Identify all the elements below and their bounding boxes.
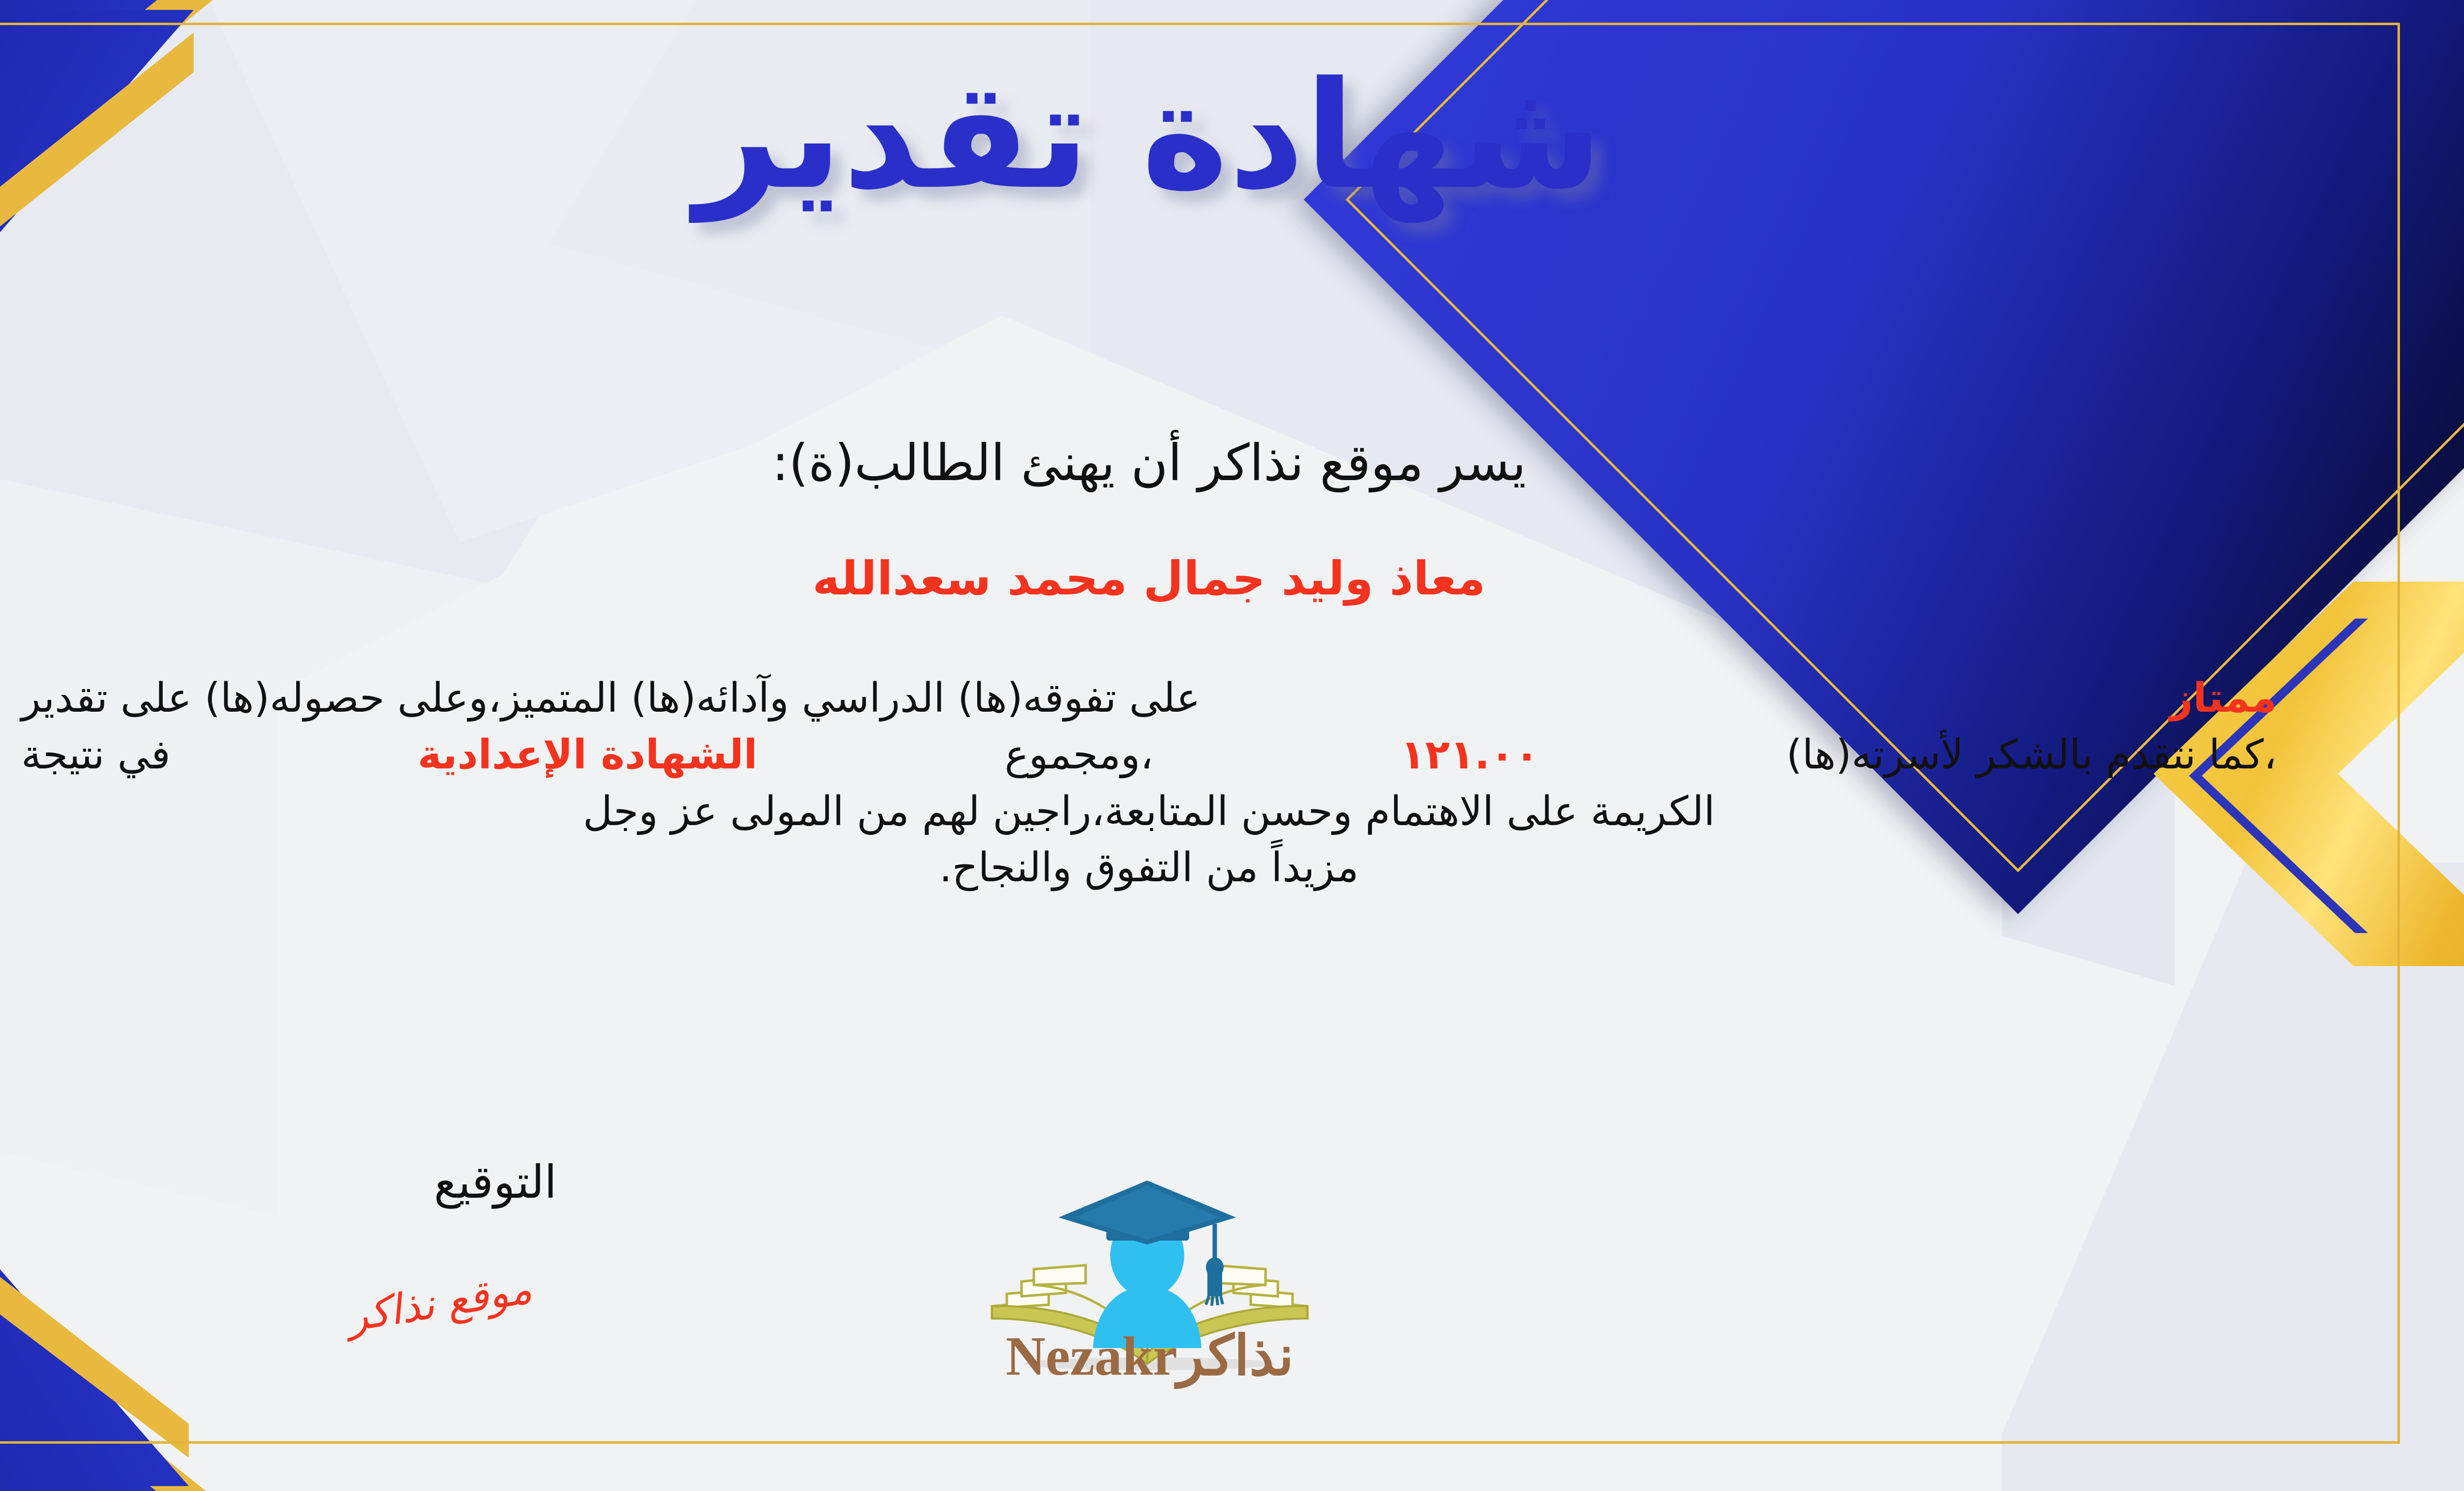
body-line-3: الكريمة على الاهتمام وحسن المتابعة،راجين…	[21, 784, 2277, 840]
certificate-page: شهادة تقدير يسر موقع نذاكر أن يهنئ الطال…	[0, 0, 2464, 1491]
exam-name-value: الشهادة الإعدادية	[417, 727, 757, 784]
nezakr-logo: نذاكرNezakr	[962, 1129, 1337, 1424]
logo-wordmark: نذاكرNezakr	[962, 1323, 1337, 1388]
body-line-2-total-label: ،ومجموع	[1005, 727, 1154, 784]
total-score-value: ١٢١.٠٠	[1401, 727, 1539, 784]
certificate-content: شهادة تقدير يسر موقع نذاكر أن يهنئ الطال…	[0, 0, 2464, 1491]
body-line-4: مزيداً من التفوق والنجاح.	[21, 840, 2277, 897]
signature-label: التوقيع	[434, 1156, 557, 1209]
logo-arabic-text: نذاكر	[1177, 1323, 1294, 1388]
certificate-title: شهادة تقدير	[0, 58, 2464, 213]
body-line-2: ،كما نتقدم بالشكر لأسرته(ها) ١٢١.٠٠ ،ومج…	[21, 727, 2277, 784]
student-name: معاذ وليد جمال محمد سعدالله	[0, 552, 2464, 606]
grade-value: ممتاز	[2170, 670, 2277, 727]
body-line-1-text: على تفوقه(ها) الدراسي وآدائه(ها) المتميز…	[21, 670, 1200, 727]
intro-text: يسر موقع نذاكر أن يهنئ الطالب(ة):	[0, 434, 2464, 492]
body-line-2-head: في نتيجة	[21, 727, 171, 784]
body-line-1: ممتاز على تفوقه(ها) الدراسي وآدائه(ها) ا…	[21, 670, 2277, 727]
signature-value: موقع نذاكر	[344, 1264, 535, 1341]
certificate-body: ممتاز على تفوقه(ها) الدراسي وآدائه(ها) ا…	[21, 670, 2277, 897]
body-line-2-tail: ،كما نتقدم بالشكر لأسرته(ها)	[1786, 727, 2277, 784]
logo-latin-text: Nezakr	[1006, 1325, 1177, 1388]
